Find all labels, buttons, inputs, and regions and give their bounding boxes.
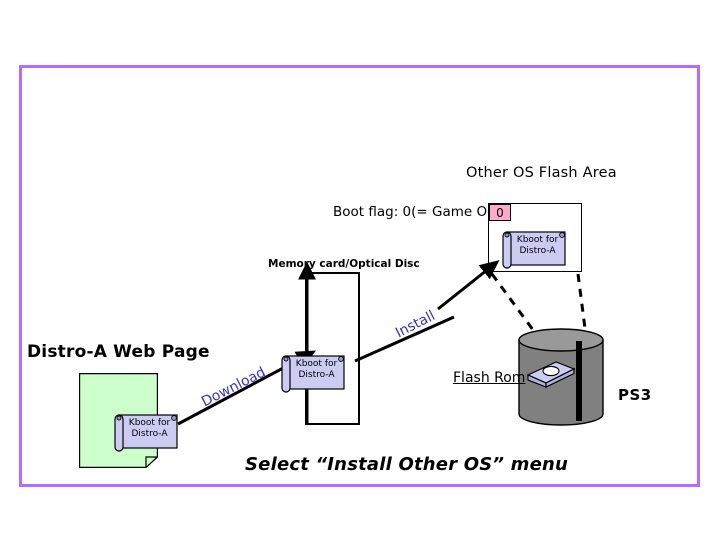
scroll-kboot-web-page: Kboot for Distro-A <box>112 411 183 455</box>
memory-card-box <box>305 272 360 425</box>
scroll-kboot-memory-card: Kboot for Distro-A <box>279 352 350 396</box>
ps3-label: PS3 <box>618 387 652 404</box>
web-page-title: Distro-A Web Page <box>27 343 210 362</box>
boot-flag-value: 0 <box>496 206 504 220</box>
scroll-kboot-flash-area: Kboot for Distro-A <box>500 228 571 272</box>
boot-flag-value-cell: 0 <box>489 204 511 221</box>
memory-card-label: Memory card/Optical Disc <box>268 259 420 271</box>
diagram-canvas: Other OS Flash Area Boot flag: 0(= Game … <box>0 0 720 540</box>
cylinder-shape <box>518 328 604 426</box>
scroll-shape <box>500 228 571 272</box>
boot-flag-label: Boot flag: 0(= Game OS) <box>333 205 501 220</box>
bottom-caption: Select “Install Other OS” menu <box>245 455 568 475</box>
flash-area-title: Other OS Flash Area <box>466 166 617 182</box>
scroll-shape <box>112 411 183 455</box>
flash-rom-label: Flash Rom <box>453 371 525 386</box>
flash-rom-cylinder <box>518 328 604 426</box>
scroll-shape <box>279 352 350 396</box>
